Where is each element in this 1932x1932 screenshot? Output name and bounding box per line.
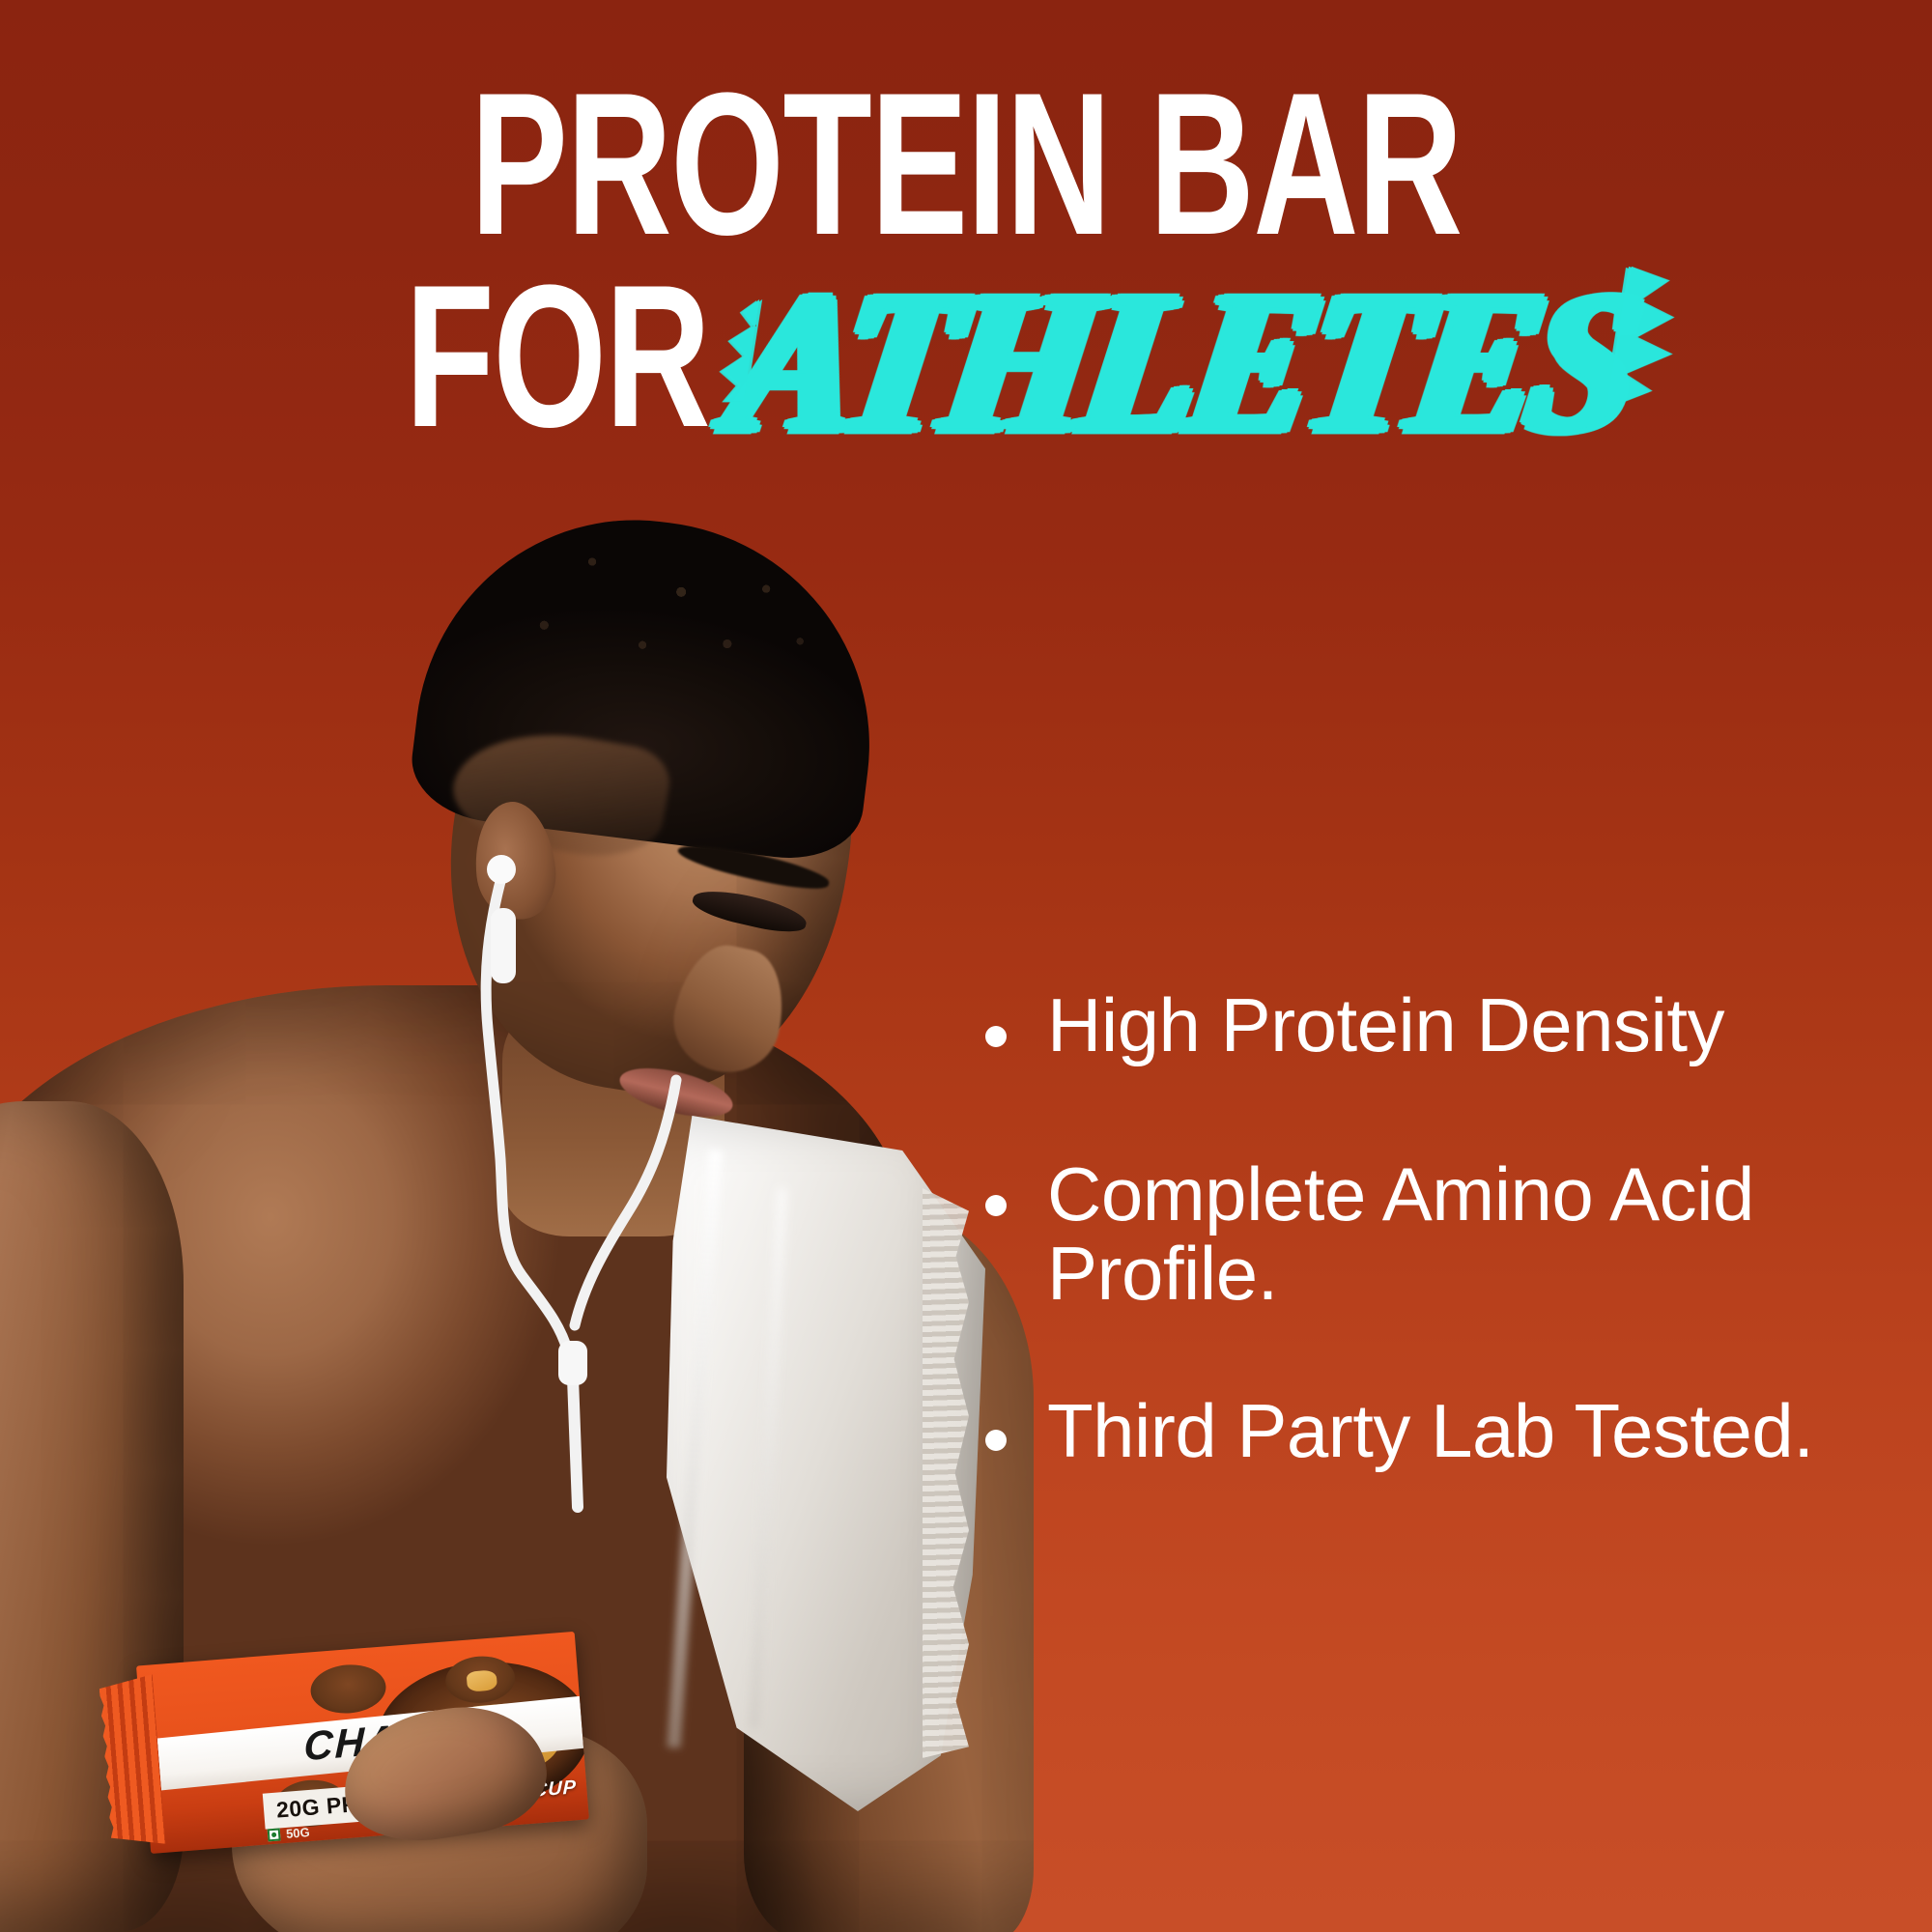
- protein-bar-ad-poster: CHASE PROTEIN 20G PROTEIN 50G PEANUT BUT…: [0, 0, 1932, 1932]
- benefit-item-1: High Protein Density: [985, 985, 1874, 1065]
- bullet-dot-icon: [985, 1430, 1007, 1451]
- bullet-dot-icon: [985, 1195, 1007, 1216]
- benefit-item-2: Complete Amino Acid Profile.: [985, 1154, 1874, 1314]
- net-weight-label: 50G: [268, 1825, 311, 1842]
- benefit-label-3: Third Party Lab Tested.: [1047, 1391, 1813, 1471]
- benefits-list: High Protein Density Complete Amino Acid…: [985, 985, 1874, 1471]
- benefit-label-2: Complete Amino Acid Profile.: [1047, 1154, 1874, 1314]
- bullet-dot-icon: [985, 1026, 1007, 1047]
- benefit-label-1: High Protein Density: [1047, 985, 1724, 1065]
- benefit-item-3: Third Party Lab Tested.: [985, 1391, 1874, 1471]
- net-weight-value: 50G: [286, 1825, 311, 1841]
- vegetarian-mark-icon: [268, 1828, 281, 1841]
- peanut-butter-cup-image-1: [309, 1662, 388, 1716]
